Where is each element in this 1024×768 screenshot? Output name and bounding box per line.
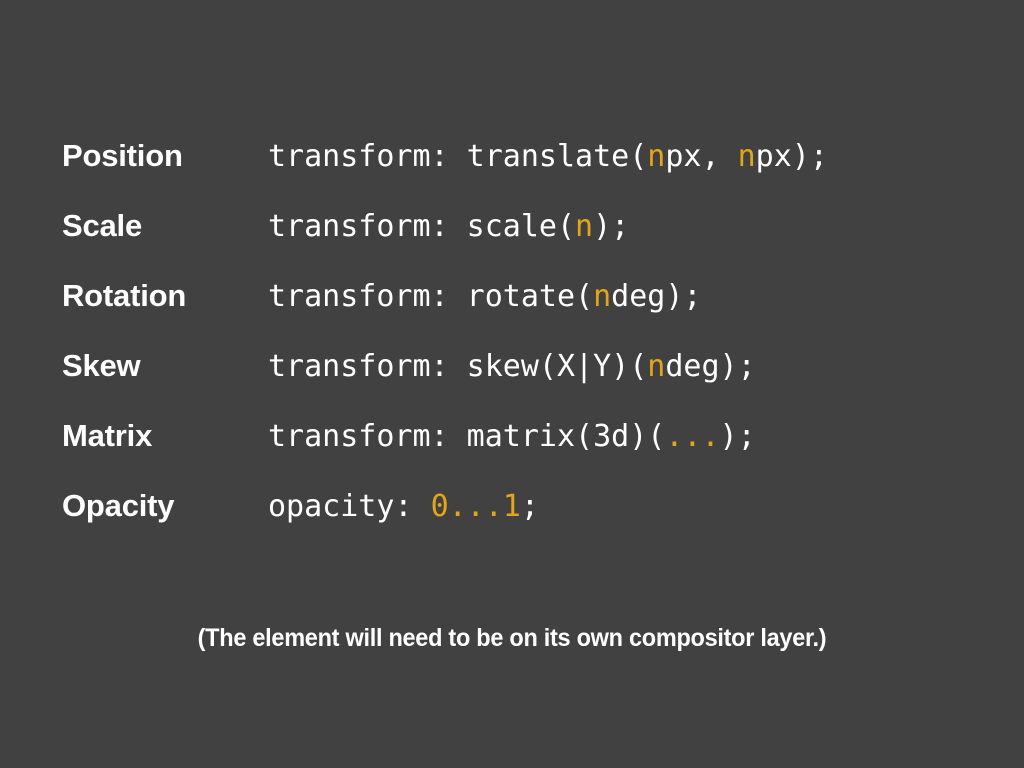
property-row-code: transform: skew(X|Y)(ndeg);	[268, 352, 982, 382]
property-row-label: Scale	[62, 210, 268, 241]
code-accent-token: n	[647, 349, 665, 384]
property-row: Rotationtransform: rotate(ndeg);	[62, 280, 982, 350]
code-token: transform: scale(	[268, 209, 575, 244]
code-token: );	[720, 419, 756, 454]
code-token: transform: skew(X|Y)(	[268, 349, 647, 384]
code-accent-token: n	[593, 279, 611, 314]
code-accent-token: n	[575, 209, 593, 244]
code-token: px,	[665, 139, 737, 174]
property-row-label: Rotation	[62, 280, 268, 311]
code-accent-token: n	[647, 139, 665, 174]
property-row-code: opacity: 0...1;	[268, 492, 982, 522]
property-row: Opacityopacity: 0...1;	[62, 490, 982, 560]
code-token: px);	[756, 139, 828, 174]
property-row-code: transform: rotate(ndeg);	[268, 282, 982, 312]
property-row-label: Position	[62, 140, 268, 171]
footnote-text: (The element will need to be on its own …	[31, 623, 994, 653]
code-token: transform: rotate(	[268, 279, 593, 314]
property-row: Skewtransform: skew(X|Y)(ndeg);	[62, 350, 982, 420]
code-token: deg);	[665, 349, 755, 384]
code-accent-token: n	[738, 139, 756, 174]
code-token: transform: translate(	[268, 139, 647, 174]
code-token: ;	[521, 489, 539, 524]
property-row-label: Opacity	[62, 490, 268, 521]
code-token: opacity:	[268, 489, 431, 524]
property-row: Matrixtransform: matrix(3d)(...);	[62, 420, 982, 490]
property-row-code: transform: scale(n);	[268, 212, 982, 242]
slide-canvas: Positiontransform: translate(npx, npx);S…	[0, 0, 1024, 768]
property-row-code: transform: translate(npx, npx);	[268, 142, 982, 172]
code-token: deg);	[611, 279, 701, 314]
code-token: );	[593, 209, 629, 244]
code-accent-token: 0...1	[431, 489, 521, 524]
property-row: Positiontransform: translate(npx, npx);	[62, 140, 982, 210]
code-token: transform: matrix(3d)(	[268, 419, 665, 454]
property-row-label: Matrix	[62, 420, 268, 451]
property-row-label: Skew	[62, 350, 268, 381]
property-row-code: transform: matrix(3d)(...);	[268, 422, 982, 452]
code-accent-token: ...	[665, 419, 719, 454]
property-row-list: Positiontransform: translate(npx, npx);S…	[62, 140, 982, 560]
property-row: Scaletransform: scale(n);	[62, 210, 982, 280]
